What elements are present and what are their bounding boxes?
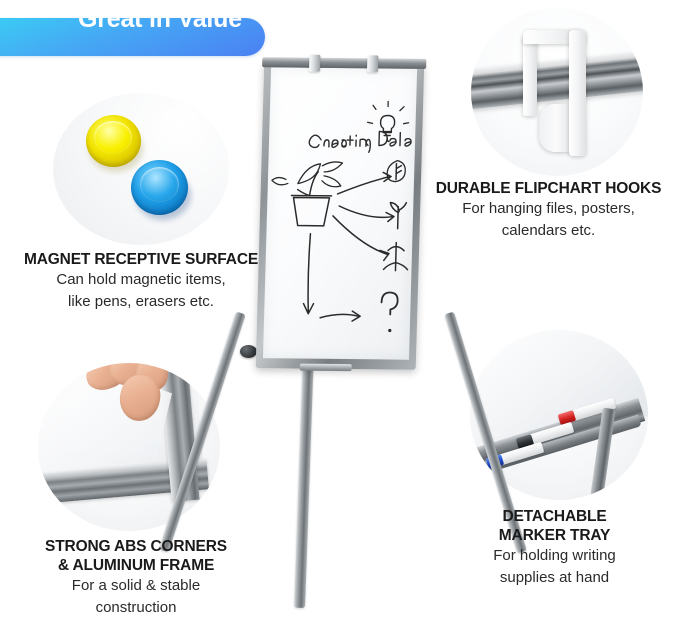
feature-desc-line1: Can hold magnetic items,	[0, 269, 282, 291]
magnet-top	[140, 167, 179, 202]
hand-icon	[84, 363, 188, 439]
feature-desc-line1: For holding writing	[430, 545, 679, 567]
feature-title: MAGNET RECEPTIVE SURFACE	[0, 250, 282, 269]
hook-right-post	[569, 30, 586, 156]
feature-desc-line1: For a solid & stable	[0, 575, 272, 597]
blue-magnet-icon	[131, 160, 188, 215]
feature-text-strong-abs-corners: STRONG ABS CORNERS & ALUMINUM FRAME For …	[0, 537, 272, 619]
feature-text-detachable-marker-tray: DETACHABLE MARKER TRAY For holding writi…	[430, 507, 679, 589]
feature-title-line2: MARKER TRAY	[430, 526, 679, 545]
whiteboard-panel	[256, 60, 425, 370]
magnet-top	[94, 121, 132, 154]
design-idea-sketch	[263, 67, 417, 359]
feature-desc-line2: supplies at hand	[430, 567, 679, 589]
feature-desc-line2: construction	[0, 597, 272, 619]
marker-tray	[300, 364, 352, 372]
feature-desc-line1: For hanging files, posters,	[418, 198, 679, 220]
height-adjust-knob	[240, 345, 257, 358]
hook-lower-loop	[539, 104, 573, 152]
feature-text-magnet-receptive-surface: MAGNET RECEPTIVE SURFACE Can hold magnet…	[0, 250, 282, 313]
hook-left-post	[523, 36, 537, 116]
feature-desc-line2: calendars etc.	[418, 220, 679, 242]
banner-title: Great in Value	[78, 0, 242, 38]
infographic-page: Great in Value	[0, 0, 679, 638]
feature-text-durable-flipchart-hooks: DURABLE FLIPCHART HOOKS For hanging file…	[418, 179, 679, 242]
feature-title-line1: DETACHABLE	[430, 507, 679, 526]
feature-title-line1: STRONG ABS CORNERS	[0, 537, 272, 556]
feature-title-line2: & ALUMINUM FRAME	[0, 556, 272, 575]
yellow-magnet-icon	[86, 115, 141, 167]
feature-title: DURABLE FLIPCHART HOOKS	[418, 179, 679, 198]
feature-desc-line2: like pens, erasers etc.	[0, 291, 282, 313]
